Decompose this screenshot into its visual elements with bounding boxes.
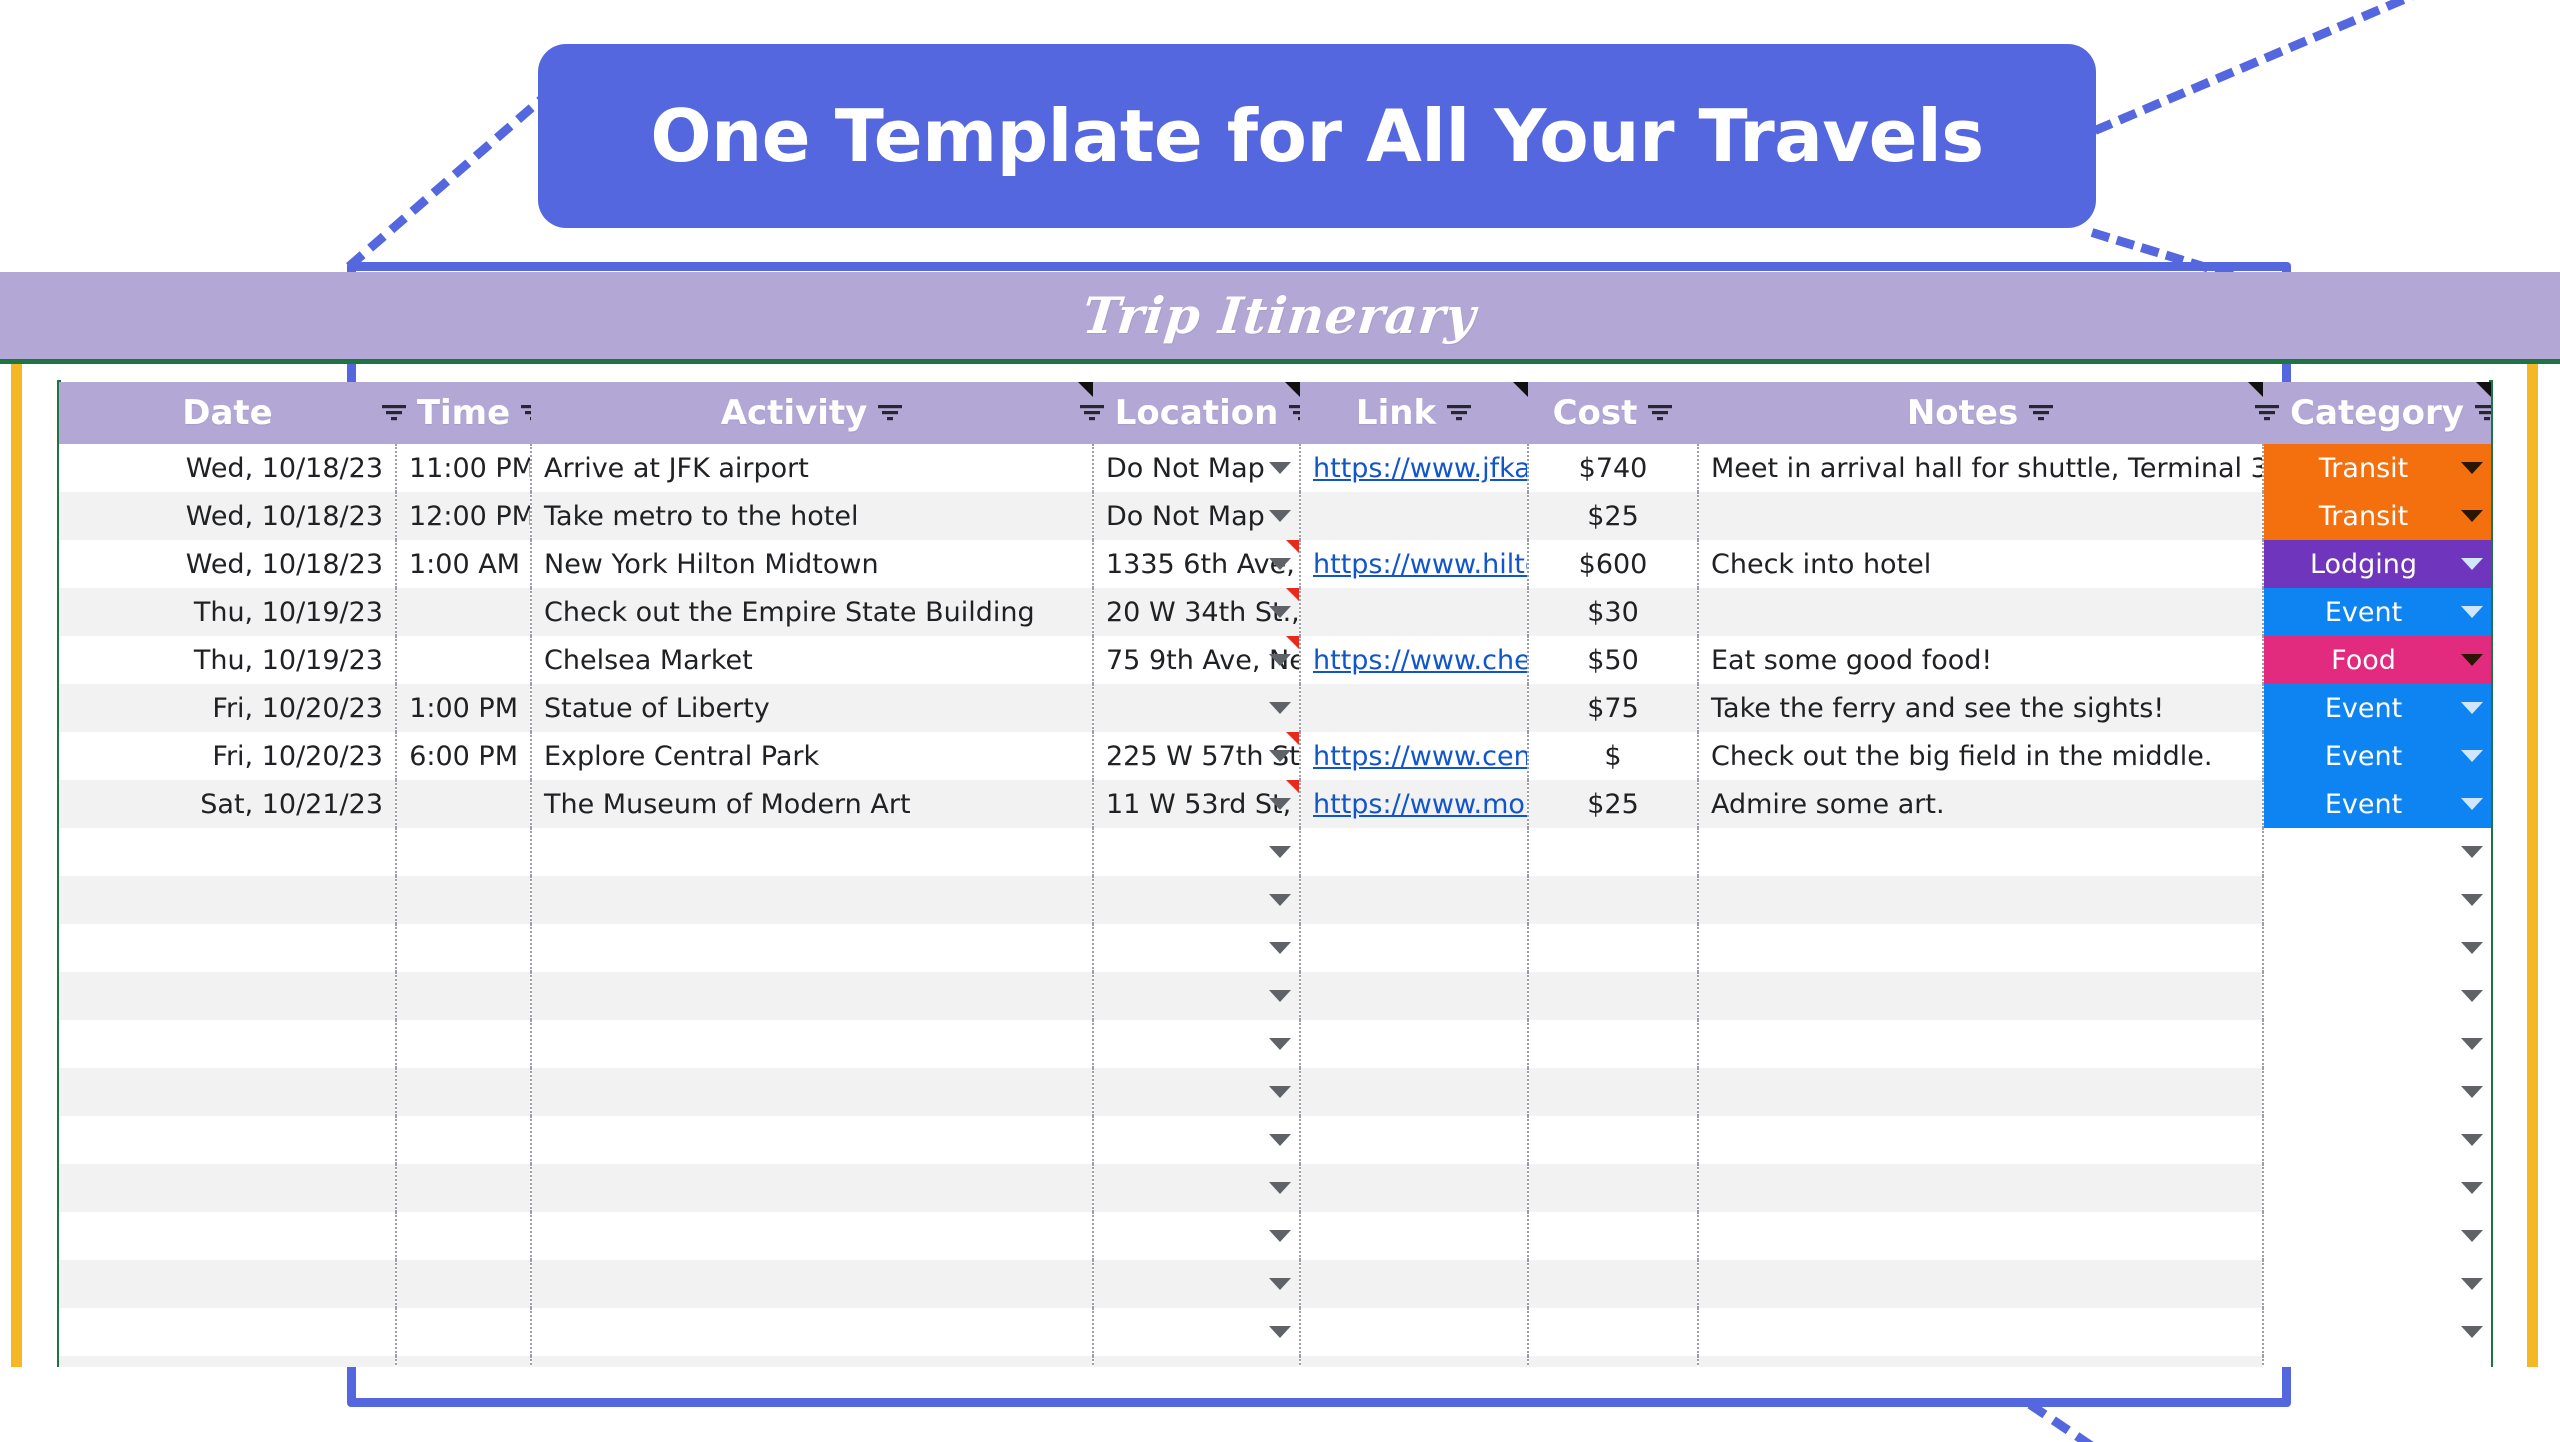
table-row-empty xyxy=(59,924,2491,972)
chevron-down-icon[interactable] xyxy=(2461,606,2483,618)
chevron-down-icon[interactable] xyxy=(1269,750,1291,762)
cell-category[interactable] xyxy=(2263,1020,2491,1068)
chevron-down-icon[interactable] xyxy=(2461,942,2483,954)
cell-link[interactable]: https://www.chels xyxy=(1300,636,1528,684)
cell-link[interactable] xyxy=(1300,1212,1528,1260)
date-text: Sat, 10/21/23 xyxy=(200,789,383,820)
chevron-down-icon[interactable] xyxy=(2461,1326,2483,1338)
activity-text: Take metro to the hotel xyxy=(544,501,858,532)
comment-indicator-icon[interactable] xyxy=(1513,382,1528,397)
cost-text: $600 xyxy=(1579,549,1648,580)
cell-activity[interactable] xyxy=(531,1020,1093,1068)
time-text: 1:00 AM xyxy=(409,549,520,580)
cell-category[interactable] xyxy=(2263,1356,2491,1367)
cell-time[interactable] xyxy=(396,1020,531,1068)
date-text: Fri, 10/20/23 xyxy=(212,741,383,772)
cell-cost[interactable] xyxy=(1528,924,1698,972)
location-text: Do Not Map xyxy=(1106,501,1265,532)
table-row-empty xyxy=(59,1356,2491,1367)
cell-link[interactable] xyxy=(1300,588,1528,636)
activity-link[interactable]: https://www.cent xyxy=(1313,741,1528,772)
cell-time[interactable]: 1:00 PM xyxy=(396,684,531,732)
cell-notes[interactable] xyxy=(1698,1116,2263,1164)
cell-cost[interactable]: $30 xyxy=(1528,588,1698,636)
column-header-label: Category xyxy=(2290,393,2464,433)
cell-time[interactable] xyxy=(396,1212,531,1260)
cell-cost[interactable] xyxy=(1528,1260,1698,1308)
cell-notes[interactable] xyxy=(1698,1356,2263,1367)
chevron-down-icon[interactable] xyxy=(1269,1230,1291,1242)
notes-text: Take the ferry and see the sights! xyxy=(1711,693,2164,724)
cost-text: $75 xyxy=(1587,693,1639,724)
cell-location[interactable] xyxy=(1093,1260,1300,1308)
cell-category[interactable]: Food xyxy=(2263,636,2491,684)
cell-cost[interactable]: $75 xyxy=(1528,684,1698,732)
category-label: Event xyxy=(2325,693,2402,724)
cell-location[interactable] xyxy=(1093,1308,1300,1356)
cell-date[interactable]: Wed, 10/18/23 xyxy=(59,492,396,540)
comment-indicator-icon[interactable] xyxy=(1286,540,1299,553)
cell-activity[interactable] xyxy=(531,972,1093,1020)
cell-link[interactable] xyxy=(1300,924,1528,972)
cell-date[interactable] xyxy=(59,924,396,972)
column-header-link[interactable]: Link xyxy=(1300,382,1528,444)
date-text: Thu, 10/19/23 xyxy=(194,597,383,628)
cell-link[interactable]: https://www.cent xyxy=(1300,732,1528,780)
cell-location[interactable]: Do Not Map xyxy=(1093,444,1300,492)
activity-text: New York Hilton Midtown xyxy=(544,549,879,580)
cell-cost[interactable] xyxy=(1528,828,1698,876)
column-header-date[interactable]: Date xyxy=(59,382,396,444)
time-text: 11:00 PM xyxy=(409,453,531,484)
cell-notes[interactable] xyxy=(1698,1212,2263,1260)
cell-category[interactable]: Transit xyxy=(2263,492,2491,540)
time-text: 6:00 PM xyxy=(409,741,518,772)
cell-date[interactable]: Wed, 10/18/23 xyxy=(59,444,396,492)
cell-category[interactable]: Event xyxy=(2263,684,2491,732)
cell-category[interactable] xyxy=(2263,1164,2491,1212)
table-row: Fri, 10/20/236:00 PMExplore Central Park… xyxy=(59,732,2491,780)
right-gold-rail xyxy=(2527,364,2538,1367)
filter-icon[interactable] xyxy=(1079,402,1105,424)
cell-link[interactable] xyxy=(1300,828,1528,876)
notes-text: Check out the big field in the middle. xyxy=(1711,741,2212,772)
filter-icon[interactable] xyxy=(2254,402,2280,424)
cell-time[interactable] xyxy=(396,1308,531,1356)
cell-link[interactable] xyxy=(1300,684,1528,732)
cell-location[interactable] xyxy=(1093,1068,1300,1116)
chevron-down-icon[interactable] xyxy=(2461,1038,2483,1050)
table-row: Sat, 10/21/23The Museum of Modern Art11 … xyxy=(59,780,2491,828)
cell-notes[interactable] xyxy=(1698,972,2263,1020)
cell-date[interactable] xyxy=(59,876,396,924)
chevron-down-icon[interactable] xyxy=(2461,750,2483,762)
cell-time[interactable] xyxy=(396,876,531,924)
cell-location[interactable] xyxy=(1093,1164,1300,1212)
comment-indicator-icon[interactable] xyxy=(2248,382,2263,397)
table-row: Thu, 10/19/23Check out the Empire State … xyxy=(59,588,2491,636)
cell-activity[interactable] xyxy=(531,828,1093,876)
cell-notes[interactable] xyxy=(1698,1308,2263,1356)
cell-cost[interactable]: $740 xyxy=(1528,444,1698,492)
cell-link[interactable] xyxy=(1300,1164,1528,1212)
cell-date[interactable]: Thu, 10/19/23 xyxy=(59,636,396,684)
cell-notes[interactable] xyxy=(1698,1260,2263,1308)
cell-link[interactable] xyxy=(1300,1260,1528,1308)
cost-text: $50 xyxy=(1587,645,1639,676)
cell-notes[interactable] xyxy=(1698,1068,2263,1116)
cell-date[interactable]: Fri, 10/20/23 xyxy=(59,684,396,732)
cell-date[interactable] xyxy=(59,1212,396,1260)
sheet-banner-title: Trip Itinerary xyxy=(1080,286,1479,345)
column-header-location[interactable]: Location xyxy=(1093,382,1300,444)
cell-date[interactable] xyxy=(59,1164,396,1212)
promo-title-text: One Template for All Your Travels xyxy=(650,94,1983,178)
category-label: Food xyxy=(2331,645,2396,676)
cell-time[interactable] xyxy=(396,1164,531,1212)
cell-activity[interactable]: Take metro to the hotel xyxy=(531,492,1093,540)
chevron-down-icon[interactable] xyxy=(1269,606,1291,618)
left-gold-rail xyxy=(11,364,22,1367)
chevron-down-icon[interactable] xyxy=(1269,702,1291,714)
cell-category[interactable] xyxy=(2263,1116,2491,1164)
cell-time[interactable]: 6:00 PM xyxy=(396,732,531,780)
cell-notes[interactable] xyxy=(1698,876,2263,924)
chevron-down-icon[interactable] xyxy=(2461,798,2483,810)
activity-link[interactable]: https://www.hilto xyxy=(1313,549,1528,580)
cell-category[interactable] xyxy=(2263,1308,2491,1356)
cell-category[interactable] xyxy=(2263,972,2491,1020)
cell-notes[interactable] xyxy=(1698,828,2263,876)
cell-activity[interactable] xyxy=(531,924,1093,972)
cell-location[interactable]: 75 9th Ave, Ne xyxy=(1093,636,1300,684)
filter-icon[interactable] xyxy=(2028,402,2054,424)
chevron-down-icon[interactable] xyxy=(2461,462,2483,474)
cell-cost[interactable]: $25 xyxy=(1528,492,1698,540)
category-label: Event xyxy=(2325,741,2402,772)
cell-cost[interactable] xyxy=(1528,1116,1698,1164)
chevron-down-icon[interactable] xyxy=(1269,1278,1291,1290)
date-text: Thu, 10/19/23 xyxy=(194,645,383,676)
cell-location[interactable] xyxy=(1093,828,1300,876)
category-label: Event xyxy=(2325,597,2402,628)
cell-activity[interactable]: New York Hilton Midtown xyxy=(531,540,1093,588)
cell-activity[interactable] xyxy=(531,1068,1093,1116)
cell-category[interactable] xyxy=(2263,876,2491,924)
cell-time[interactable]: 1:00 AM xyxy=(396,540,531,588)
cell-location[interactable]: 11 W 53rd St, I xyxy=(1093,780,1300,828)
comment-indicator-icon[interactable] xyxy=(1285,382,1300,397)
cell-location[interactable]: 225 W 57th St xyxy=(1093,732,1300,780)
activity-link[interactable]: https://www.chels xyxy=(1313,645,1528,676)
promo-title-badge: One Template for All Your Travels xyxy=(538,44,2096,228)
cell-date[interactable] xyxy=(59,828,396,876)
notes-text: Check into hotel xyxy=(1711,549,1931,580)
cell-time[interactable]: 11:00 PM xyxy=(396,444,531,492)
chevron-down-icon[interactable] xyxy=(1269,990,1291,1002)
chevron-down-icon[interactable] xyxy=(2461,846,2483,858)
filter-icon[interactable] xyxy=(1446,402,1472,424)
cell-date[interactable] xyxy=(59,1308,396,1356)
cell-category[interactable]: Transit xyxy=(2263,444,2491,492)
column-header-label: Link xyxy=(1356,393,1436,433)
column-header-label: Cost xyxy=(1553,393,1638,433)
cell-category[interactable] xyxy=(2263,924,2491,972)
chevron-down-icon[interactable] xyxy=(2461,990,2483,1002)
cost-text: $ xyxy=(1604,741,1621,772)
cell-cost[interactable]: $600 xyxy=(1528,540,1698,588)
time-text: 1:00 PM xyxy=(409,693,518,724)
cell-date[interactable]: Sat, 10/21/23 xyxy=(59,780,396,828)
cell-date[interactable]: Fri, 10/20/23 xyxy=(59,732,396,780)
filter-icon[interactable] xyxy=(877,402,903,424)
chevron-down-icon[interactable] xyxy=(1269,654,1291,666)
chevron-down-icon[interactable] xyxy=(2461,654,2483,666)
column-header-time[interactable]: Time xyxy=(396,382,531,444)
cost-text: $25 xyxy=(1587,501,1639,532)
cell-category[interactable]: Lodging xyxy=(2263,540,2491,588)
cell-notes[interactable] xyxy=(1698,924,2263,972)
table-row: Thu, 10/19/23Chelsea Market75 9th Ave, N… xyxy=(59,636,2491,684)
cell-cost[interactable] xyxy=(1528,1020,1698,1068)
chevron-down-icon[interactable] xyxy=(1269,462,1291,474)
table-row: Wed, 10/18/231:00 AMNew York Hilton Midt… xyxy=(59,540,2491,588)
chevron-down-icon[interactable] xyxy=(1269,798,1291,810)
activity-link[interactable]: https://www.jfkair xyxy=(1313,453,1528,484)
cell-link[interactable]: https://www.hilto xyxy=(1300,540,1528,588)
cell-cost[interactable] xyxy=(1528,1164,1698,1212)
cell-date[interactable]: Thu, 10/19/23 xyxy=(59,588,396,636)
cell-time[interactable] xyxy=(396,924,531,972)
column-header-label: Time xyxy=(417,393,510,433)
activity-text: Statue of Liberty xyxy=(544,693,770,724)
activity-link[interactable]: https://www.mom xyxy=(1313,789,1528,820)
itinerary-sheet[interactable]: DateTimeActivityLocationLinkCostNotesCat… xyxy=(59,382,2491,1367)
filter-icon[interactable] xyxy=(1647,402,1673,424)
cell-notes[interactable]: Take the ferry and see the sights! xyxy=(1698,684,2263,732)
column-header-activity[interactable]: Activity xyxy=(531,382,1093,444)
cell-cost[interactable]: $ xyxy=(1528,732,1698,780)
cell-time[interactable] xyxy=(396,1068,531,1116)
cell-date[interactable] xyxy=(59,1260,396,1308)
cell-date[interactable] xyxy=(59,1116,396,1164)
cell-link[interactable] xyxy=(1300,1116,1528,1164)
cell-date[interactable] xyxy=(59,972,396,1020)
cost-text: $740 xyxy=(1579,453,1648,484)
chevron-down-icon[interactable] xyxy=(2461,1230,2483,1242)
table-body: Wed, 10/18/2311:00 PMArrive at JFK airpo… xyxy=(59,444,2491,1367)
cell-link[interactable]: https://www.jfkair xyxy=(1300,444,1528,492)
cell-activity[interactable] xyxy=(531,876,1093,924)
column-header-notes[interactable]: Notes xyxy=(1698,382,2263,444)
cell-activity[interactable]: Explore Central Park xyxy=(531,732,1093,780)
category-label: Transit xyxy=(2319,453,2408,484)
cell-location[interactable] xyxy=(1093,684,1300,732)
date-text: Wed, 10/18/23 xyxy=(186,549,383,580)
cell-location[interactable] xyxy=(1093,876,1300,924)
chevron-down-icon[interactable] xyxy=(2461,1086,2483,1098)
cell-location[interactable]: 20 W 34th St., xyxy=(1093,588,1300,636)
cell-activity[interactable]: Arrive at JFK airport xyxy=(531,444,1093,492)
cell-activity[interactable] xyxy=(531,1260,1093,1308)
cell-date[interactable]: Wed, 10/18/23 xyxy=(59,540,396,588)
chevron-down-icon[interactable] xyxy=(1269,1038,1291,1050)
cell-notes[interactable] xyxy=(1698,1164,2263,1212)
cell-category[interactable]: Event xyxy=(2263,780,2491,828)
column-header-label: Activity xyxy=(721,393,868,433)
cell-location[interactable] xyxy=(1093,972,1300,1020)
chevron-down-icon[interactable] xyxy=(1269,1134,1291,1146)
chevron-down-icon[interactable] xyxy=(1269,942,1291,954)
comment-indicator-icon[interactable] xyxy=(1286,732,1299,745)
chevron-down-icon[interactable] xyxy=(1269,1326,1291,1338)
column-header-cost[interactable]: Cost xyxy=(1528,382,1698,444)
cell-time[interactable] xyxy=(396,828,531,876)
activity-text: Check out the Empire State Building xyxy=(544,597,1035,628)
leader-line-top-right xyxy=(2093,0,2560,135)
chevron-down-icon[interactable] xyxy=(2461,894,2483,906)
cell-cost[interactable]: $50 xyxy=(1528,636,1698,684)
chevron-down-icon[interactable] xyxy=(1269,846,1291,858)
cell-notes[interactable]: Check into hotel xyxy=(1698,540,2263,588)
chevron-down-icon[interactable] xyxy=(2461,702,2483,714)
cell-activity[interactable] xyxy=(531,1212,1093,1260)
cell-link[interactable] xyxy=(1300,1068,1528,1116)
table-header-row: DateTimeActivityLocationLinkCostNotesCat… xyxy=(59,382,2491,444)
cell-notes[interactable]: Eat some good food! xyxy=(1698,636,2263,684)
notes-text: Admire some art. xyxy=(1711,789,1945,820)
cell-cost[interactable]: $25 xyxy=(1528,780,1698,828)
cell-link[interactable] xyxy=(1300,1356,1528,1367)
filter-icon[interactable] xyxy=(381,402,407,424)
chevron-down-icon[interactable] xyxy=(2461,1182,2483,1194)
table-row-empty xyxy=(59,1068,2491,1116)
cell-link[interactable]: https://www.mom xyxy=(1300,780,1528,828)
cell-link[interactable] xyxy=(1300,1308,1528,1356)
cell-category[interactable]: Event xyxy=(2263,588,2491,636)
table-row: Fri, 10/20/231:00 PMStatue of Liberty$75… xyxy=(59,684,2491,732)
cell-activity[interactable] xyxy=(531,1356,1093,1367)
activity-text: Explore Central Park xyxy=(544,741,819,772)
cell-category[interactable] xyxy=(2263,1260,2491,1308)
cell-notes[interactable] xyxy=(1698,1020,2263,1068)
cell-activity[interactable]: Chelsea Market xyxy=(531,636,1093,684)
cell-cost[interactable] xyxy=(1528,876,1698,924)
cost-text: $30 xyxy=(1587,597,1639,628)
cell-activity[interactable] xyxy=(531,1116,1093,1164)
cell-notes[interactable]: Meet in arrival hall for shuttle, Termin… xyxy=(1698,444,2263,492)
column-header-category[interactable]: Category xyxy=(2263,382,2491,444)
cell-category[interactable]: Event xyxy=(2263,732,2491,780)
cell-cost[interactable] xyxy=(1528,1356,1698,1367)
cell-activity[interactable]: The Museum of Modern Art xyxy=(531,780,1093,828)
cell-time[interactable]: 12:00 PM xyxy=(396,492,531,540)
cell-notes[interactable]: Admire some art. xyxy=(1698,780,2263,828)
cell-time[interactable] xyxy=(396,780,531,828)
column-header-label: Location xyxy=(1115,393,1279,433)
cell-location[interactable]: 1335 6th Ave, xyxy=(1093,540,1300,588)
cell-link[interactable] xyxy=(1300,492,1528,540)
cell-notes[interactable] xyxy=(1698,588,2263,636)
table-row-empty xyxy=(59,1212,2491,1260)
cell-link[interactable] xyxy=(1300,972,1528,1020)
cell-link[interactable] xyxy=(1300,876,1528,924)
table-row-empty xyxy=(59,1164,2491,1212)
table-row-empty xyxy=(59,1020,2491,1068)
activity-text: Chelsea Market xyxy=(544,645,753,676)
cell-time[interactable] xyxy=(396,1116,531,1164)
category-label: Event xyxy=(2325,789,2402,820)
filter-icon[interactable] xyxy=(2474,402,2491,424)
notes-text: Eat some good food! xyxy=(1711,645,1992,676)
time-text: 12:00 PM xyxy=(409,501,531,532)
cell-notes[interactable]: Check out the big field in the middle. xyxy=(1698,732,2263,780)
location-text: Do Not Map xyxy=(1106,453,1265,484)
chevron-down-icon[interactable] xyxy=(1269,510,1291,522)
comment-indicator-icon[interactable] xyxy=(2476,382,2491,397)
chevron-down-icon[interactable] xyxy=(1269,894,1291,906)
cell-activity[interactable] xyxy=(531,1164,1093,1212)
chevron-down-icon[interactable] xyxy=(1269,1086,1291,1098)
chevron-down-icon[interactable] xyxy=(1269,558,1291,570)
cell-activity[interactable] xyxy=(531,1308,1093,1356)
comment-indicator-icon[interactable] xyxy=(1286,588,1299,601)
cell-location[interactable]: Do Not Map xyxy=(1093,492,1300,540)
cell-time[interactable] xyxy=(396,636,531,684)
cell-cost[interactable] xyxy=(1528,1068,1698,1116)
cell-date[interactable] xyxy=(59,1356,396,1367)
chevron-down-icon[interactable] xyxy=(2461,1134,2483,1146)
cell-time[interactable] xyxy=(396,972,531,1020)
chevron-down-icon[interactable] xyxy=(2461,558,2483,570)
cell-cost[interactable] xyxy=(1528,1212,1698,1260)
table-row-empty xyxy=(59,1116,2491,1164)
cell-activity[interactable]: Statue of Liberty xyxy=(531,684,1093,732)
cell-time[interactable] xyxy=(396,588,531,636)
cell-time[interactable] xyxy=(396,1356,531,1367)
cell-category[interactable] xyxy=(2263,828,2491,876)
cell-cost[interactable] xyxy=(1528,972,1698,1020)
column-header-label: Date xyxy=(182,393,272,433)
chevron-down-icon[interactable] xyxy=(1269,1182,1291,1194)
category-label: Lodging xyxy=(2310,549,2417,580)
chevron-down-icon[interactable] xyxy=(2461,1278,2483,1290)
table-row: Wed, 10/18/2311:00 PMArrive at JFK airpo… xyxy=(59,444,2491,492)
comment-indicator-icon[interactable] xyxy=(1286,780,1299,793)
cell-location[interactable] xyxy=(1093,1020,1300,1068)
cell-activity[interactable]: Check out the Empire State Building xyxy=(531,588,1093,636)
cell-location[interactable] xyxy=(1093,1212,1300,1260)
cell-link[interactable] xyxy=(1300,1020,1528,1068)
activity-text: Arrive at JFK airport xyxy=(544,453,809,484)
chevron-down-icon[interactable] xyxy=(2461,510,2483,522)
table-row: Wed, 10/18/2312:00 PMTake metro to the h… xyxy=(59,492,2491,540)
cell-location[interactable] xyxy=(1093,1116,1300,1164)
cell-location[interactable] xyxy=(1093,924,1300,972)
cell-category[interactable] xyxy=(2263,1212,2491,1260)
cell-date[interactable] xyxy=(59,1068,396,1116)
cell-cost[interactable] xyxy=(1528,1308,1698,1356)
cell-time[interactable] xyxy=(396,1260,531,1308)
cell-location[interactable] xyxy=(1093,1356,1300,1367)
cell-category[interactable] xyxy=(2263,1068,2491,1116)
cell-date[interactable] xyxy=(59,1020,396,1068)
comment-indicator-icon[interactable] xyxy=(1286,636,1299,649)
comment-indicator-icon[interactable] xyxy=(1078,382,1093,397)
table-row-empty xyxy=(59,1260,2491,1308)
itinerary-table: DateTimeActivityLocationLinkCostNotesCat… xyxy=(59,382,2491,1367)
cell-notes[interactable] xyxy=(1698,492,2263,540)
